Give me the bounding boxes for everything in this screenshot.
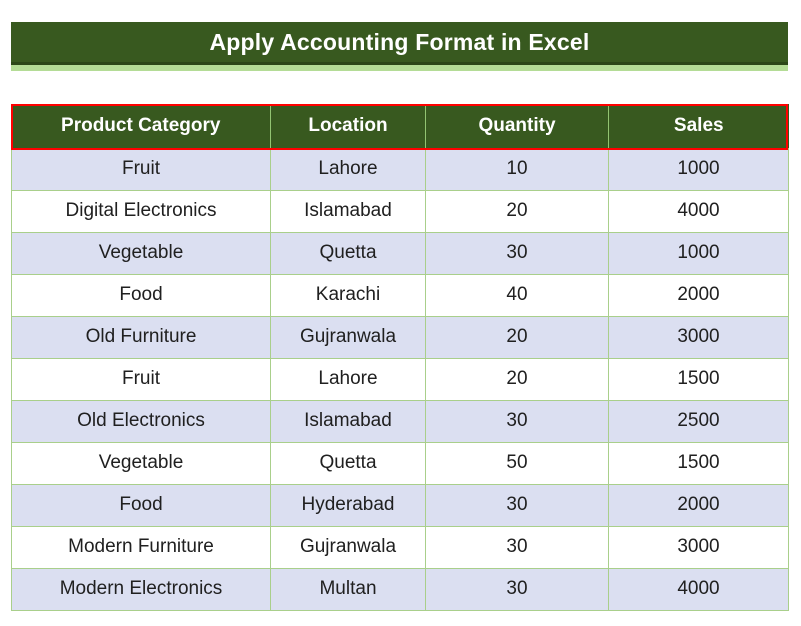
table-cell[interactable]: 4000 (609, 568, 789, 610)
table-row[interactable]: FoodHyderabad302000 (12, 484, 789, 526)
table-cell[interactable]: Fruit (12, 148, 271, 190)
table-row[interactable]: FoodKarachi402000 (12, 274, 789, 316)
data-table: Product Category Location Quantity Sales… (11, 104, 789, 611)
table-cell[interactable]: 2000 (609, 484, 789, 526)
column-header-quantity[interactable]: Quantity (426, 104, 609, 148)
column-header-location[interactable]: Location (271, 104, 426, 148)
data-table-container: Product Category Location Quantity Sales… (11, 104, 788, 611)
column-header-product-category[interactable]: Product Category (12, 104, 271, 148)
table-header-row: Product Category Location Quantity Sales (12, 104, 789, 148)
table-cell[interactable]: Islamabad (271, 400, 426, 442)
table-cell[interactable]: 1000 (609, 232, 789, 274)
title-banner: Apply Accounting Format in Excel (11, 22, 788, 71)
table-cell[interactable]: 1500 (609, 358, 789, 400)
table-cell[interactable]: Lahore (271, 358, 426, 400)
page-root: Apply Accounting Format in Excel Product… (0, 0, 801, 626)
table-cell[interactable]: 20 (426, 190, 609, 232)
table-row[interactable]: Digital ElectronicsIslamabad204000 (12, 190, 789, 232)
table-cell[interactable]: 4000 (609, 190, 789, 232)
table-row[interactable]: Modern ElectronicsMultan304000 (12, 568, 789, 610)
table-cell[interactable]: Lahore (271, 148, 426, 190)
table-cell[interactable]: 30 (426, 526, 609, 568)
table-cell[interactable]: Old Furniture (12, 316, 271, 358)
table-header: Product Category Location Quantity Sales (12, 104, 789, 148)
table-cell[interactable]: 20 (426, 316, 609, 358)
table-cell[interactable]: Gujranwala (271, 316, 426, 358)
column-header-sales[interactable]: Sales (609, 104, 789, 148)
title-banner-bar: Apply Accounting Format in Excel (11, 22, 788, 65)
table-cell[interactable]: 10 (426, 148, 609, 190)
table-row[interactable]: Old ElectronicsIslamabad302500 (12, 400, 789, 442)
table-cell[interactable]: 30 (426, 400, 609, 442)
table-cell[interactable]: Fruit (12, 358, 271, 400)
table-cell[interactable]: Hyderabad (271, 484, 426, 526)
table-cell[interactable]: 40 (426, 274, 609, 316)
table-cell[interactable]: Digital Electronics (12, 190, 271, 232)
table-cell[interactable]: 1500 (609, 442, 789, 484)
table-cell[interactable]: Food (12, 274, 271, 316)
table-cell[interactable]: 1000 (609, 148, 789, 190)
table-cell[interactable]: 2000 (609, 274, 789, 316)
table-cell[interactable]: 3000 (609, 526, 789, 568)
table-row[interactable]: VegetableQuetta501500 (12, 442, 789, 484)
table-cell[interactable]: Food (12, 484, 271, 526)
table-row[interactable]: FruitLahore201500 (12, 358, 789, 400)
table-cell[interactable]: 20 (426, 358, 609, 400)
table-body: FruitLahore101000Digital ElectronicsIsla… (12, 148, 789, 610)
table-cell[interactable]: 50 (426, 442, 609, 484)
table-cell[interactable]: Vegetable (12, 442, 271, 484)
table-cell[interactable]: 2500 (609, 400, 789, 442)
table-row[interactable]: FruitLahore101000 (12, 148, 789, 190)
table-cell[interactable]: Islamabad (271, 190, 426, 232)
table-cell[interactable]: 3000 (609, 316, 789, 358)
table-cell[interactable]: Old Electronics (12, 400, 271, 442)
table-cell[interactable]: 30 (426, 232, 609, 274)
table-row[interactable]: VegetableQuetta301000 (12, 232, 789, 274)
table-row[interactable]: Modern FurnitureGujranwala303000 (12, 526, 789, 568)
table-cell[interactable]: Gujranwala (271, 526, 426, 568)
table-cell[interactable]: Modern Furniture (12, 526, 271, 568)
table-cell[interactable]: Vegetable (12, 232, 271, 274)
table-cell[interactable]: Modern Electronics (12, 568, 271, 610)
table-row[interactable]: Old FurnitureGujranwala203000 (12, 316, 789, 358)
page-title: Apply Accounting Format in Excel (210, 31, 590, 54)
title-banner-accent-strip (11, 65, 788, 71)
table-cell[interactable]: Multan (271, 568, 426, 610)
table-cell[interactable]: Quetta (271, 232, 426, 274)
table-cell[interactable]: 30 (426, 568, 609, 610)
table-cell[interactable]: 30 (426, 484, 609, 526)
table-cell[interactable]: Karachi (271, 274, 426, 316)
table-cell[interactable]: Quetta (271, 442, 426, 484)
